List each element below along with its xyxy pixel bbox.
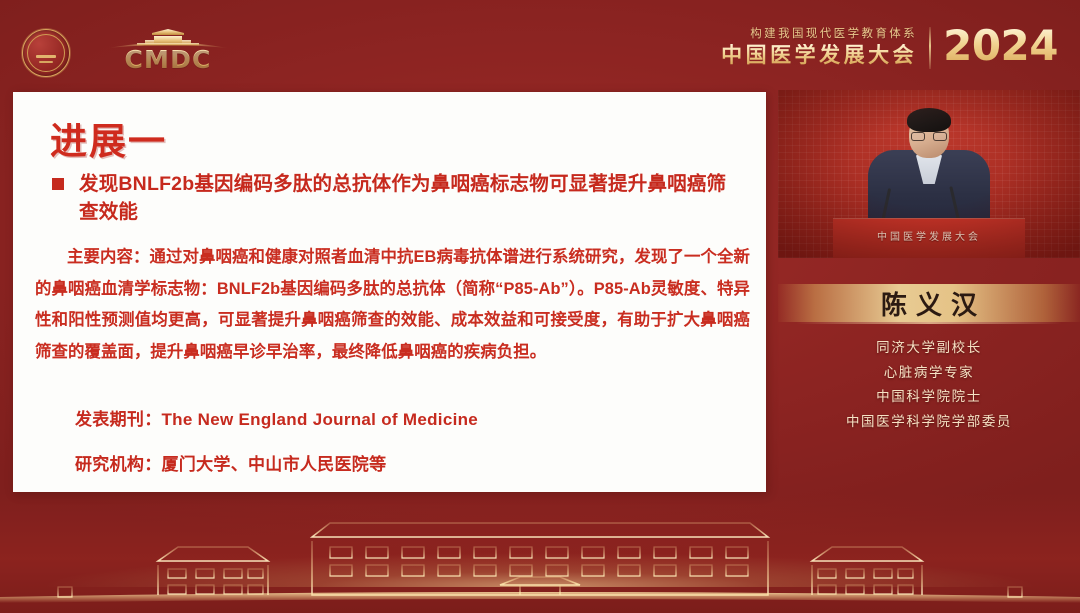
cmdc-wordmark: CMDC [104,28,232,78]
broadcast-stage: CMDC 构建我国现代医学教育体系 中国医学发展大会 2024 进展一 发现BN… [0,0,1080,613]
conference-title: 中国医学发展大会 [721,44,917,68]
slide-organization-line: 研究机构：厦门大学、中山市人民医院等 [75,450,386,475]
speaker-name: 陈义汉 [872,285,986,322]
square-bullet-icon [52,178,64,190]
slide-bullet: 发现BNLF2b基因编码多肽的总抗体作为鼻咽癌标志物可显著提升鼻咽癌筛查效能 [52,171,736,226]
cmdc-abbrev-text: CMDC [104,45,232,74]
seal-bar-upper [36,55,56,58]
seal-bar-lower [39,61,53,63]
slide-body-paragraph: 主要内容：通过对鼻咽癌和健康对照者血清中抗EB病毒抗体谱进行系统研究，发现了一个… [35,242,750,368]
conference-wordmark: 构建我国现代医学教育体系 中国医学发展大会 2024 [721,22,1058,74]
speaker-video-feed[interactable]: 中国医学发展大会 [778,90,1080,258]
conference-subtitle: 构建我国现代医学教育体系 [721,28,917,41]
wordmark-divider [929,27,931,69]
journal-value: The New England Journal of Medicine [162,410,479,429]
credential-line: 同济大学副校长 [778,336,1080,361]
video-vignette [778,90,1080,258]
credential-line: 中国科学院院士 [778,385,1080,410]
seal-emblem-icon [23,30,69,76]
slide-journal-line: 发表期刊：The New England Journal of Medicine [75,405,478,430]
speaker-credentials: 同济大学副校长 心脏病学专家 中国科学院院士 中国医学科学院学部委员 [778,336,1080,434]
organization-value: 厦门大学、中山市人民医院等 [162,455,387,474]
speaker-name-bar: 陈义汉 [778,284,1080,322]
conference-title-group: 构建我国现代医学教育体系 中国医学发展大会 [721,28,917,68]
slide-title: 进展一 [50,111,167,165]
conference-year: 2024 [943,25,1058,71]
header-bar: CMDC 构建我国现代医学教育体系 中国医学发展大会 2024 [0,0,1080,90]
cmdc-seal-logo [22,29,70,77]
presentation-slide: 进展一 发现BNLF2b基因编码多肽的总抗体作为鼻咽癌标志物可显著提升鼻咽癌筛查… [13,92,766,492]
great-hall-of-the-people-outline-icon [0,495,1080,613]
slide-bullet-text: 发现BNLF2b基因编码多肽的总抗体作为鼻咽癌标志物可显著提升鼻咽癌筛查效能 [79,171,736,226]
credential-line: 中国医学科学院学部委员 [778,410,1080,435]
stage-floor-glow [0,553,1080,587]
organization-label: 研究机构： [75,455,162,474]
journal-label: 发表期刊： [75,410,162,429]
credential-line: 心脏病学专家 [778,361,1080,386]
